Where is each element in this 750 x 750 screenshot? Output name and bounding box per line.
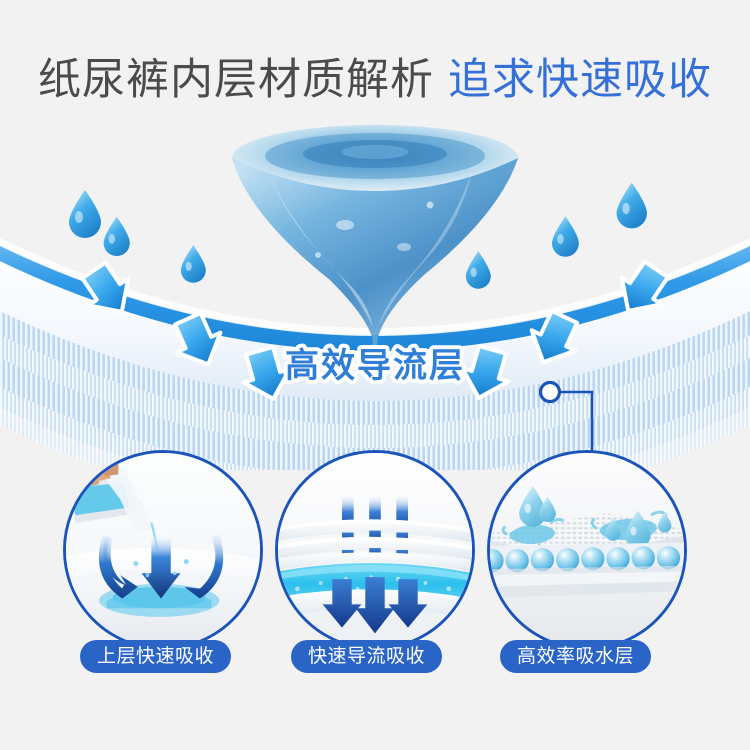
status-badge-fast-diversion[interactable]: 快速导流吸收 <box>291 640 442 673</box>
status-badge-top-absorption[interactable]: 上层快速吸收 <box>80 640 231 673</box>
water-droplet-icon <box>181 245 206 282</box>
scene-mesh-absorbent <box>490 453 684 647</box>
water-droplet-icon <box>552 216 579 256</box>
page-title: 纸尿裤内层材质解析追求快速吸收 <box>0 56 750 105</box>
circle-top-absorption[interactable] <box>63 450 263 650</box>
water-droplet-icon <box>104 217 130 256</box>
water-droplet-icon <box>466 251 491 288</box>
water-droplet-icon <box>69 190 101 238</box>
status-badge-absorbent-layer[interactable]: 高效率吸水层 <box>500 640 651 673</box>
hero-center-label-text: 高效导流层 <box>285 347 465 385</box>
scene-flow-layers <box>278 453 472 647</box>
layer-structure-diagram: 高效导流层 <box>0 105 750 470</box>
circle-fast-diversion[interactable] <box>275 450 475 650</box>
scene-hand-pouring <box>66 453 260 647</box>
poster-canvas: 纸尿裤内层材质解析追求快速吸收 <box>0 0 750 750</box>
page-title-accent: 追求快速吸收 <box>448 56 712 104</box>
caption-row: 上层快速吸收 快速导流吸收 高效率吸水层 <box>0 640 750 680</box>
water-droplet-icon <box>490 490 498 510</box>
page-title-primary: 纸尿裤内层材质解析 <box>38 56 434 104</box>
detail-circle-row <box>0 448 750 663</box>
water-droplet-icon <box>617 183 647 229</box>
circle-absorbent-layer[interactable] <box>487 450 687 650</box>
hero-center-label: 高效导流层 <box>285 347 465 385</box>
